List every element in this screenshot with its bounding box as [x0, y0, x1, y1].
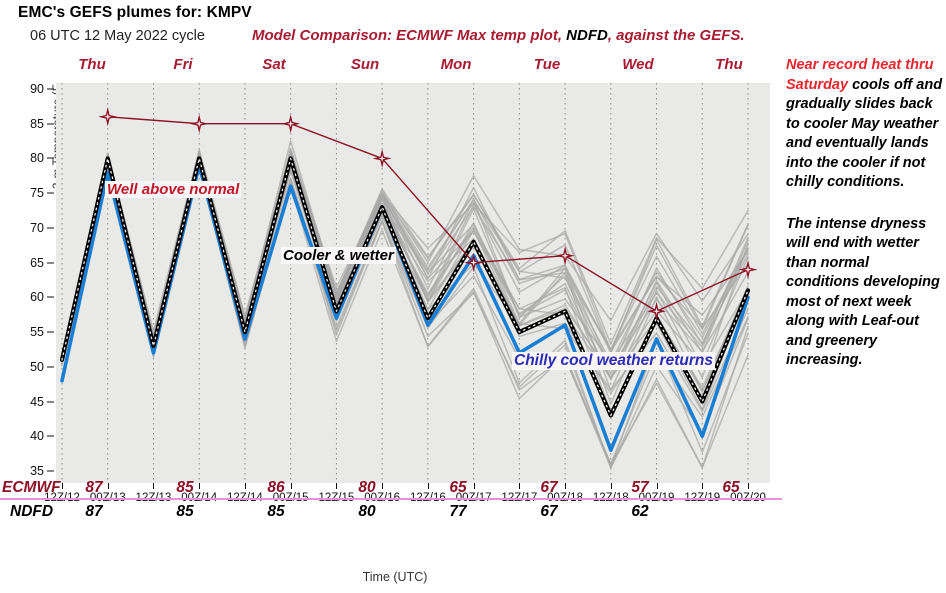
y-tick-label-85: 85	[14, 117, 44, 131]
day-label-thu-0: Thu	[78, 56, 106, 73]
model-comparison-title: Model Comparison: ECMWF Max temp plot, N…	[252, 27, 745, 44]
y-tick-mark-45	[47, 401, 54, 402]
annotation-chilly-cool-weather-returns: Chilly cool weather returns	[512, 352, 715, 370]
x-tick-mark-5	[291, 483, 292, 489]
ecmwf-value-2: 86	[267, 479, 284, 497]
x-tick-mark-14	[702, 483, 703, 489]
x-axis-label: Time (UTC)	[0, 570, 790, 584]
right-annotation-column: Near record heat thru Saturday cools off…	[786, 56, 946, 371]
x-tick-mark-8	[428, 483, 429, 489]
y-tick-mark-40	[47, 436, 54, 437]
x-tick-mark-4	[245, 483, 246, 489]
day-label-wed-6: Wed	[622, 56, 653, 73]
ecmwf-row-label: ECMWF	[2, 479, 61, 497]
ecmwf-value-1: 85	[176, 479, 193, 497]
ecmwf-value-4: 65	[449, 479, 466, 497]
y-tick-mark-35	[47, 471, 54, 472]
ecmwf-marker-2	[281, 114, 300, 133]
ecmwf-marker-0	[98, 107, 117, 126]
x-tick-mark-7	[382, 483, 383, 489]
day-label-fri-1: Fri	[173, 56, 192, 73]
x-tick-mark-9	[474, 483, 475, 489]
right-paragraph-1: Near record heat thru Saturday cools off…	[786, 56, 946, 193]
plume-chart-svg	[56, 83, 770, 483]
y-tick-label-45: 45	[14, 395, 44, 409]
y-tick-label-35: 35	[14, 464, 44, 478]
x-tick-mark-12	[611, 483, 612, 489]
annotation-well-above-normal: Well above normal	[105, 181, 241, 198]
y-tick-mark-65	[47, 262, 54, 263]
y-tick-label-70: 70	[14, 221, 44, 235]
model-comparison-ndfd: NDFD	[566, 27, 608, 44]
ecmwf-value-5: 67	[540, 479, 557, 497]
x-tick-mark-3	[199, 483, 200, 489]
annotation-cooler-and-wetter: Cooler & wetter	[281, 247, 396, 264]
cycle-subtitle: 06 UTC 12 May 2022 cycle	[30, 28, 205, 44]
y-tick-mark-75	[47, 193, 54, 194]
x-tick-mark-0	[62, 483, 63, 489]
y-tick-label-65: 65	[14, 256, 44, 270]
y-tick-mark-50	[47, 366, 54, 367]
y-tick-mark-60	[47, 297, 54, 298]
y-tick-mark-55	[47, 332, 54, 333]
x-tick-mark-6	[336, 483, 337, 489]
day-label-row: ThuFriSatSunMonTueWedThu	[0, 56, 790, 80]
y-tick-label-75: 75	[14, 186, 44, 200]
right-paragraph-1-rest: cools off and gradually slides back to c…	[786, 77, 942, 191]
x-tick-mark-2	[153, 483, 154, 489]
ndfd-value-0: 87	[85, 503, 102, 521]
ecmwf-value-0: 87	[85, 479, 102, 497]
right-paragraph-2: The intense dryness will end with wetter…	[786, 215, 946, 371]
page-title: EMC's GEFS plumes for: KMPV	[18, 4, 252, 22]
day-label-tue-5: Tue	[534, 56, 560, 73]
y-tick-mark-70	[47, 227, 54, 228]
ecmwf-value-3: 80	[358, 479, 375, 497]
day-label-sat-2: Sat	[262, 56, 285, 73]
x-tick-mark-10	[519, 483, 520, 489]
y-tick-label-40: 40	[14, 429, 44, 443]
ndfd-value-5: 67	[540, 503, 557, 521]
x-tick-mark-15	[748, 483, 749, 489]
x-tick-mark-11	[565, 483, 566, 489]
ecmwf-marker-1	[190, 114, 209, 133]
ndfd-row-label: NDFD	[10, 503, 53, 521]
day-label-mon-4: Mon	[441, 56, 472, 73]
day-label-sun-3: Sun	[351, 56, 379, 73]
y-tick-label-90: 90	[14, 82, 44, 96]
magenta-divider-line	[0, 498, 782, 500]
ndfd-value-4: 77	[449, 503, 466, 521]
plume-chart-plot-area	[56, 83, 770, 483]
day-label-thu-7: Thu	[715, 56, 743, 73]
y-tick-label-50: 50	[14, 360, 44, 374]
y-tick-label-60: 60	[14, 290, 44, 304]
ecmwf-value-7: 65	[722, 479, 739, 497]
y-tick-label-80: 80	[14, 151, 44, 165]
model-comparison-post: , against the GEFS.	[608, 27, 745, 44]
x-tick-mark-13	[657, 483, 658, 489]
ndfd-value-3: 80	[358, 503, 375, 521]
model-comparison-pre: Model Comparison: ECMWF Max temp plot,	[252, 27, 566, 44]
ndfd-value-6: 62	[631, 503, 648, 521]
ecmwf-value-6: 57	[631, 479, 648, 497]
ndfd-value-1: 85	[176, 503, 193, 521]
x-tick-mark-1	[108, 483, 109, 489]
y-tick-label-55: 55	[14, 325, 44, 339]
ndfd-value-2: 85	[267, 503, 284, 521]
